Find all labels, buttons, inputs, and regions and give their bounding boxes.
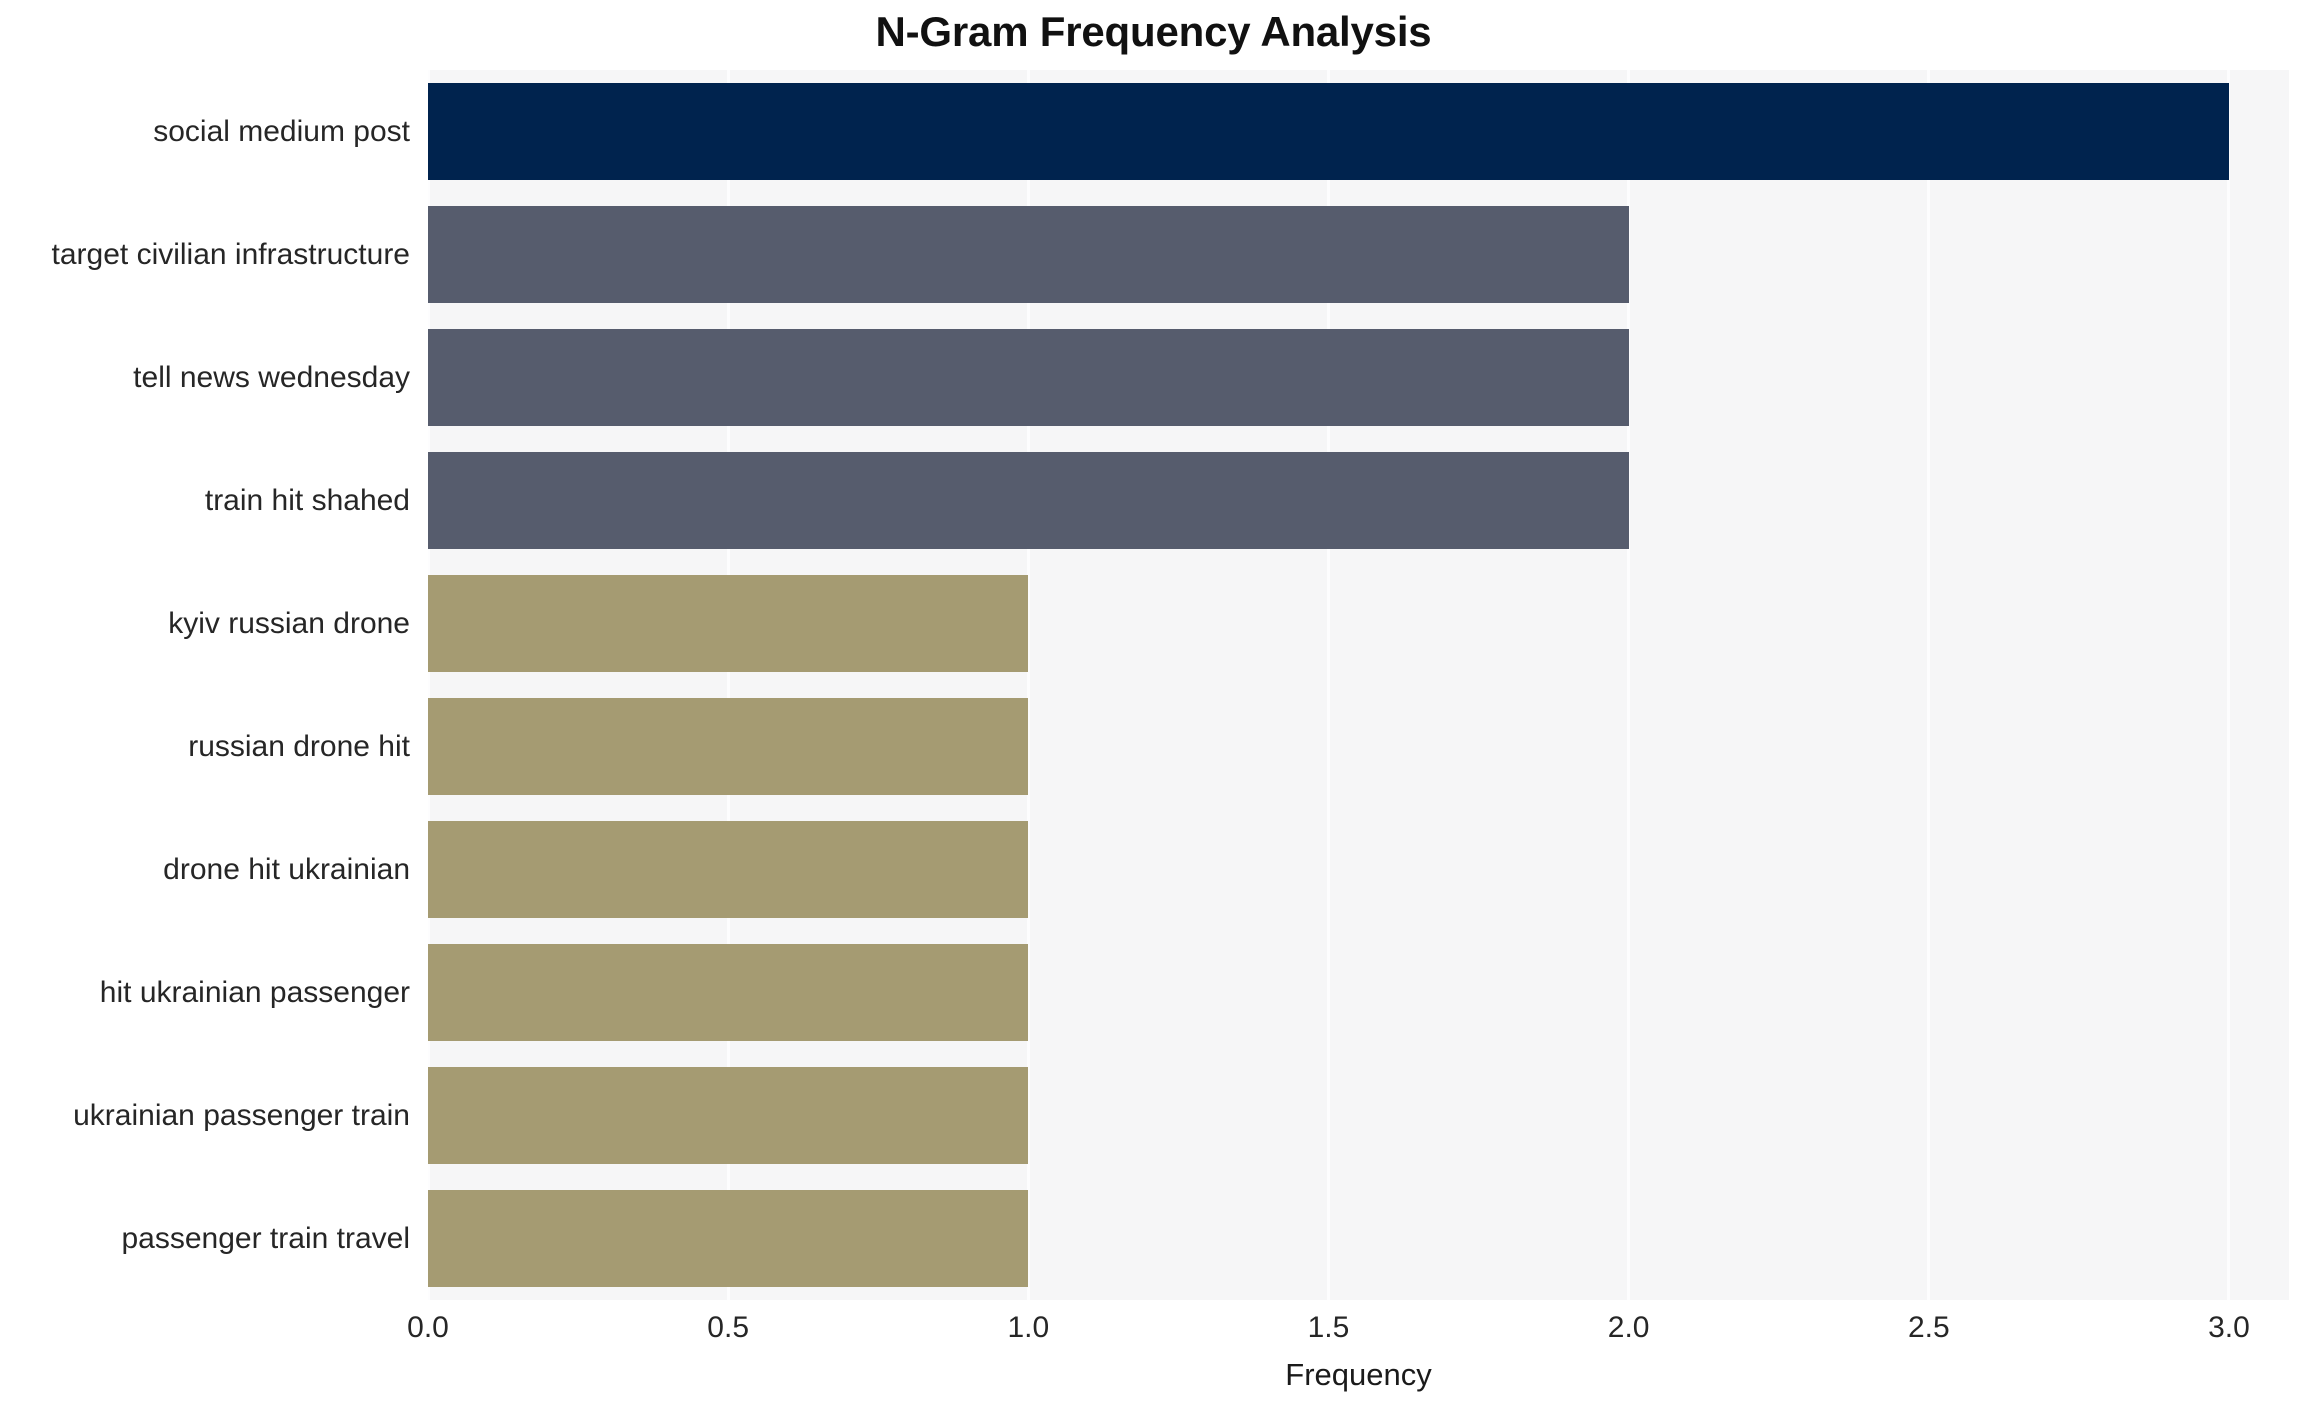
x-axis-tick: 0.5: [707, 1310, 749, 1346]
y-axis-label: passenger train travel: [0, 1222, 410, 1256]
chart-figure: N-Gram Frequency Analysis social medium …: [0, 0, 2307, 1402]
x-axis-tick: 0.0: [407, 1310, 449, 1346]
x-axis-tick: 2.5: [1908, 1310, 1950, 1346]
bars-layer: [428, 70, 2289, 1300]
bar[interactable]: [428, 821, 1028, 918]
bar[interactable]: [428, 575, 1028, 672]
y-axis-label: tell news wednesday: [0, 361, 410, 395]
y-axis-label: train hit shahed: [0, 484, 410, 518]
y-axis-label: ukrainian passenger train: [0, 1099, 410, 1133]
y-axis-label: drone hit ukrainian: [0, 853, 410, 887]
y-axis-category-labels: social medium posttarget civilian infras…: [0, 70, 410, 1300]
y-axis-label: target civilian infrastructure: [0, 238, 410, 272]
y-axis-label: kyiv russian drone: [0, 607, 410, 641]
x-axis-tick: 2.0: [1608, 1310, 1650, 1346]
y-axis-label: social medium post: [0, 115, 410, 149]
x-axis-tick: 3.0: [2208, 1310, 2250, 1346]
x-axis-tick: 1.0: [1007, 1310, 1049, 1346]
bar[interactable]: [428, 83, 2229, 180]
plot-area: [428, 70, 2289, 1300]
bar[interactable]: [428, 1190, 1028, 1287]
y-axis-label: hit ukrainian passenger: [0, 976, 410, 1010]
bar[interactable]: [428, 698, 1028, 795]
y-axis-label: russian drone hit: [0, 730, 410, 764]
x-axis-tick-labels: 0.00.51.01.52.02.53.0: [0, 1310, 2307, 1356]
x-axis-title: Frequency: [428, 1356, 2289, 1394]
bar[interactable]: [428, 452, 1629, 549]
bar[interactable]: [428, 329, 1629, 426]
page-title: N-Gram Frequency Analysis: [0, 6, 2307, 58]
bar[interactable]: [428, 1067, 1028, 1164]
x-axis-tick: 1.5: [1308, 1310, 1350, 1346]
bar[interactable]: [428, 944, 1028, 1041]
bar[interactable]: [428, 206, 1629, 303]
